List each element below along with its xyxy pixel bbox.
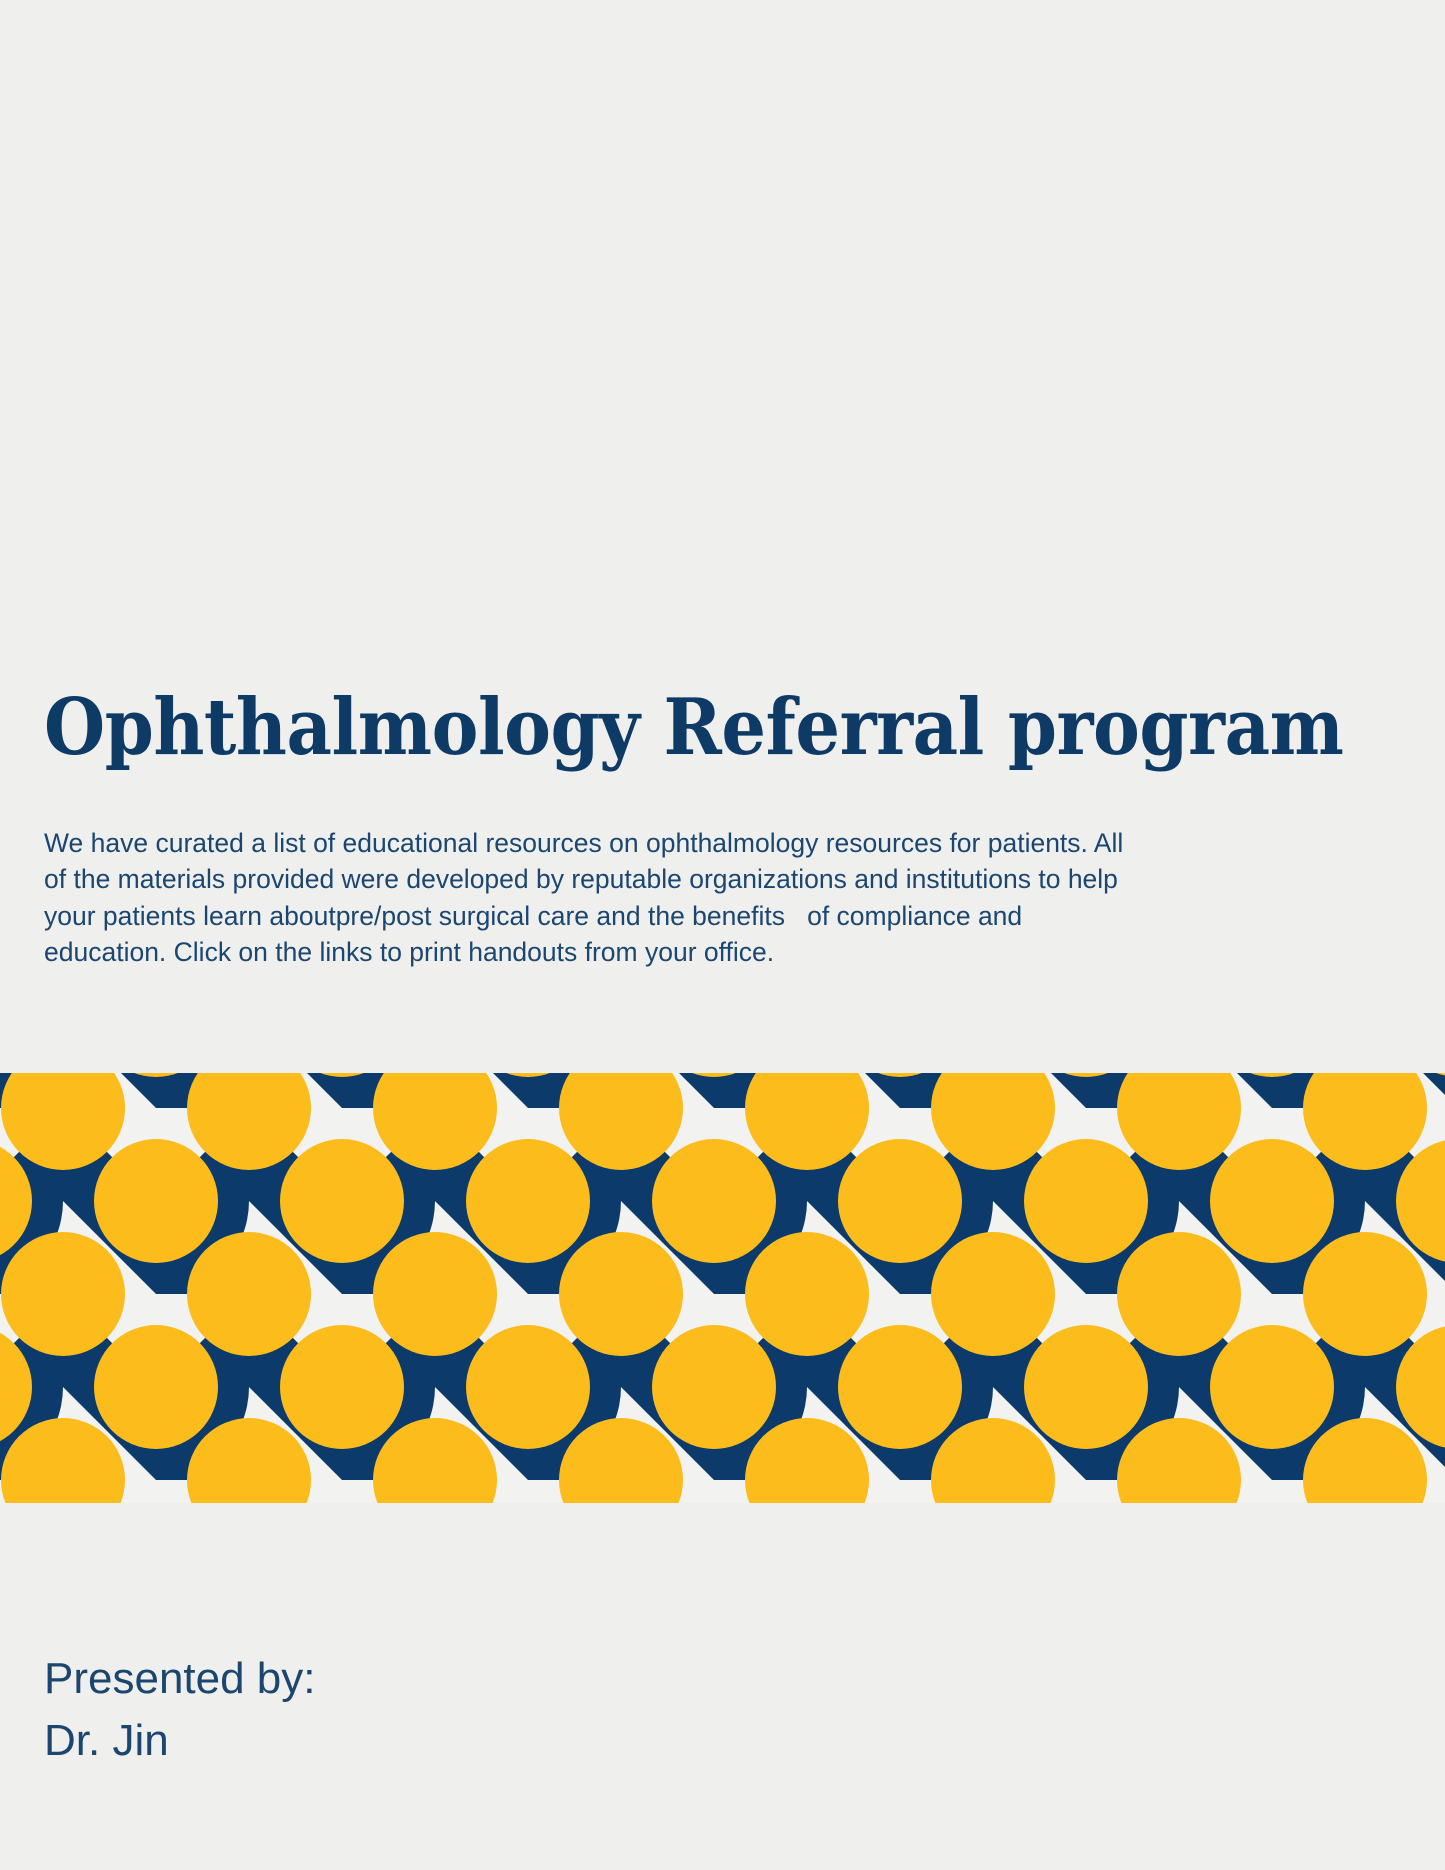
- decorative-pattern-band: [0, 1073, 1445, 1503]
- pattern-svg: [0, 1073, 1445, 1503]
- presenter-block: Presented by: Dr. Jin: [44, 1648, 316, 1772]
- presenter-name: Dr. Jin: [44, 1710, 316, 1772]
- page-title: Ophthalmology Referral program: [44, 680, 1232, 776]
- poster-page: Ophthalmology Referral program We have c…: [0, 0, 1445, 1870]
- presented-by-label: Presented by:: [44, 1648, 316, 1710]
- intro-paragraph: We have curated a list of educational re…: [44, 825, 1149, 971]
